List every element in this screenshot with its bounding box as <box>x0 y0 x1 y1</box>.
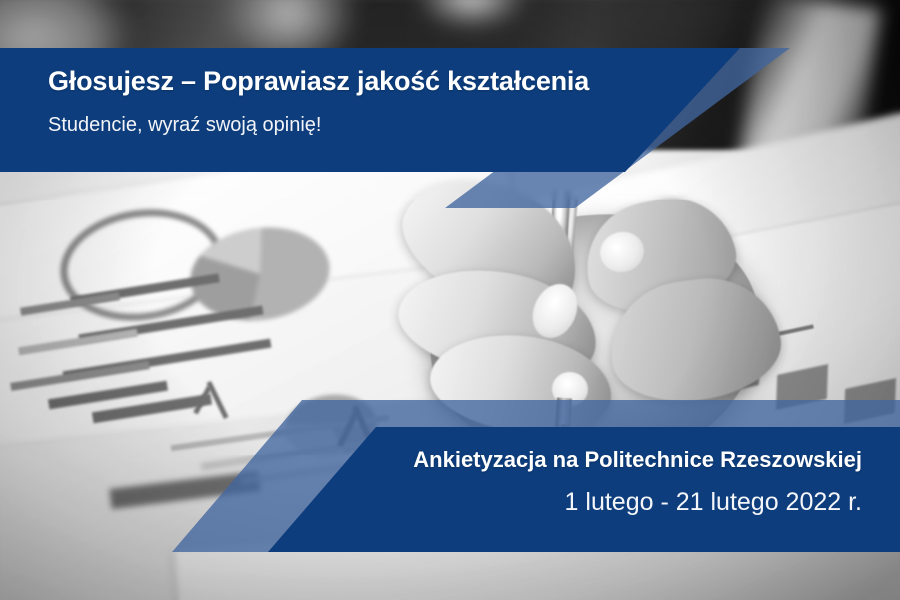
poster-headline: Głosujesz – Poprawiasz jakość kształceni… <box>48 66 648 97</box>
poster-subheadline: Studencie, wyraź swoją opinię! <box>48 113 648 137</box>
bottom-banner-text: Ankietyzacja na Politechnice Rzeszowskie… <box>413 447 862 517</box>
promotional-poster: Głosujesz – Poprawiasz jakość kształceni… <box>0 0 900 600</box>
event-title: Ankietyzacja na Politechnice Rzeszowskie… <box>413 447 862 473</box>
event-date-range: 1 lutego - 21 lutego 2022 r. <box>413 487 862 517</box>
top-banner-text: Głosujesz – Poprawiasz jakość kształceni… <box>48 66 648 137</box>
